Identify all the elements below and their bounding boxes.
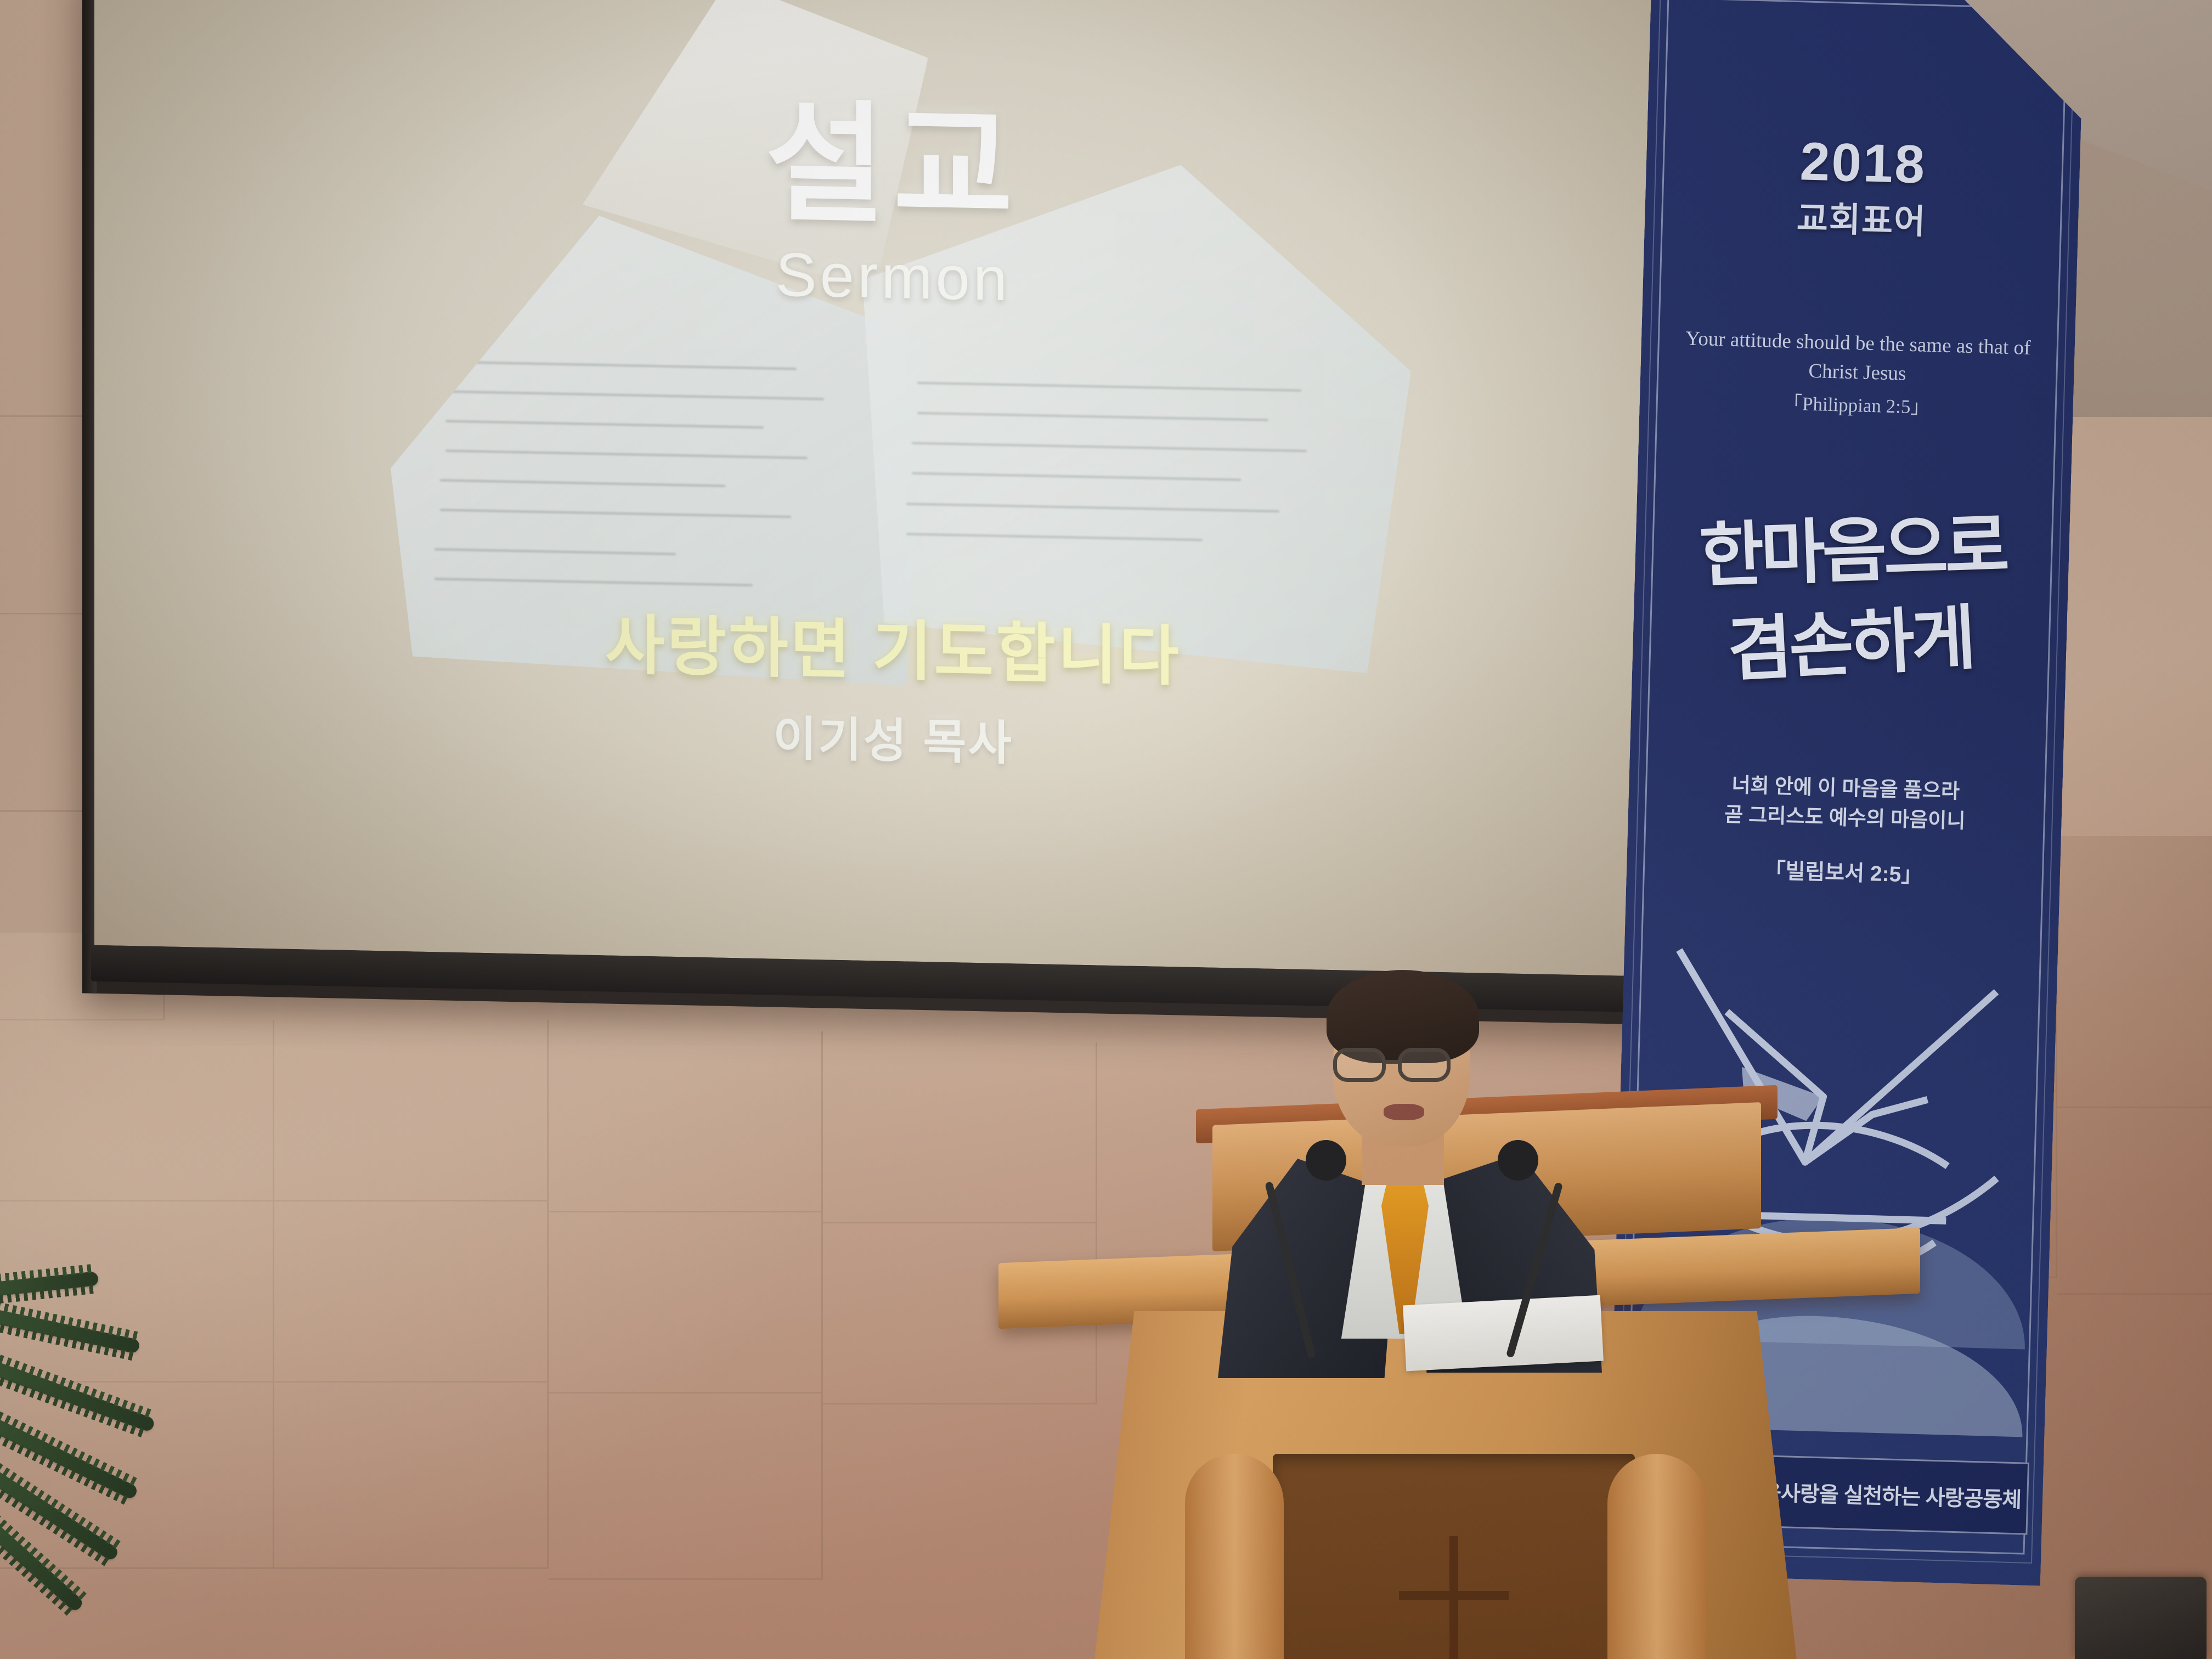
floor-equipment-object xyxy=(2075,1577,2207,1659)
sermon-notes-paper xyxy=(1403,1295,1604,1372)
projected-slide: 설교 Sermon 사랑하면 기도합니다 이기성 목사 xyxy=(94,0,1692,977)
sanctuary-photo: 설교 Sermon 사랑하면 기도합니다 이기성 목사 2018 교회표어 Yo… xyxy=(0,0,2212,1659)
preacher xyxy=(1169,966,1662,1350)
pulpit-recess-panel xyxy=(1273,1454,1635,1659)
banner-english-verse: Your attitude should be the same as that… xyxy=(1669,324,2047,392)
decorative-plant xyxy=(0,1273,208,1659)
eyeglasses-icon-right xyxy=(1398,1048,1451,1082)
cross-icon-bar xyxy=(1399,1591,1509,1600)
eyeglasses-icon-left xyxy=(1333,1048,1386,1082)
pulpit-column-left xyxy=(1185,1454,1284,1659)
eyeglasses-bridge xyxy=(1386,1060,1400,1064)
pulpit-column-right xyxy=(1607,1454,1706,1659)
banner-korean-verse: 너희 안에 이 마음을 품으라 곧 그리스도 예수의 마음이니 xyxy=(1652,768,2039,838)
projection-screen: 설교 Sermon 사랑하면 기도합니다 이기성 목사 xyxy=(82,0,1706,1026)
mouth xyxy=(1384,1104,1424,1120)
slide-sermon-title: 사랑하면 기도합니다 xyxy=(94,582,1692,708)
